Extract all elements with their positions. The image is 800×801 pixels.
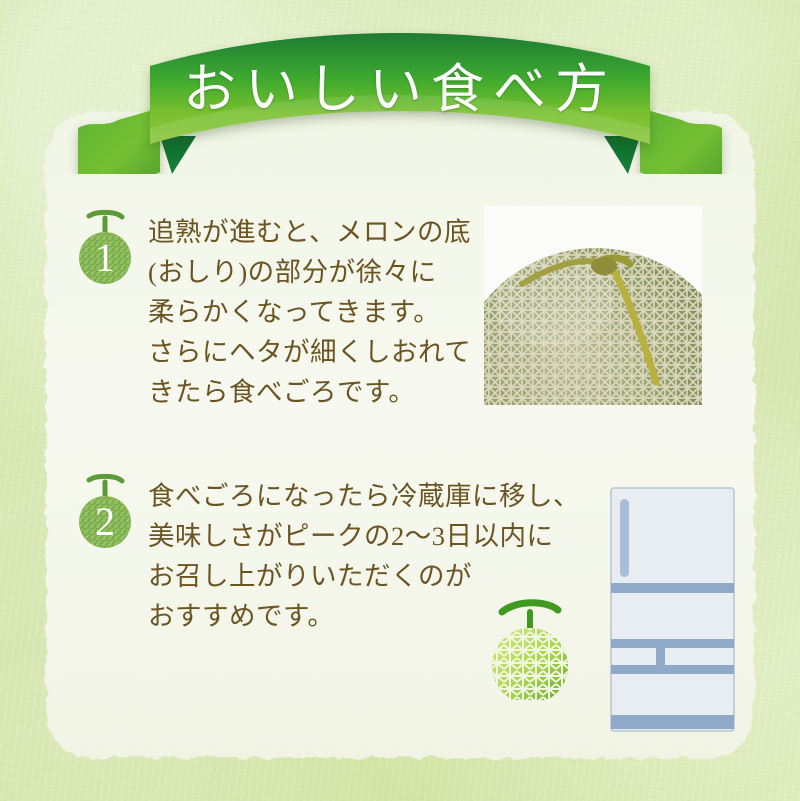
step-2-line-2: 美味しさがピークの2〜3日以内に [148, 516, 580, 556]
melon-badge-1: 1 [72, 208, 138, 286]
step-1-line-1: 追熟が進むと、メロンの底 [148, 212, 471, 252]
step-1-text: 追熟が進むと、メロンの底 (おしり)の部分が徐々に 柔らかくなってきます。 さら… [148, 212, 471, 412]
banner-title: おいしい食べ方 [0, 64, 800, 117]
step-2-line-3: お召し上がりいただくのが [148, 556, 580, 596]
melon-illustration [478, 592, 582, 700]
refrigerator-illustration [610, 487, 735, 732]
melon-photograph [484, 206, 702, 405]
infographic-canvas: おいしい食べ方 1 追熟が進むと、メロンの底 (おしり)の部分が徐々に 柔らかく… [0, 0, 800, 801]
badge-number-1: 1 [95, 235, 115, 280]
step-2-line-1: 食べごろになったら冷蔵庫に移し、 [148, 476, 580, 516]
fridge-handle-icon [620, 499, 629, 577]
title-ribbon: おいしい食べ方 [0, 24, 800, 174]
step-1-line-2: (おしり)の部分が徐々に [148, 252, 471, 292]
badge-number-2: 2 [95, 499, 115, 544]
step-1-line-5: きたら食べごろです。 [148, 372, 471, 412]
step-1-line-4: さらにヘタが細くしおれて [148, 332, 471, 372]
melon-badge-2: 2 [72, 472, 138, 550]
step-1-line-3: 柔らかくなってきます。 [148, 292, 471, 332]
